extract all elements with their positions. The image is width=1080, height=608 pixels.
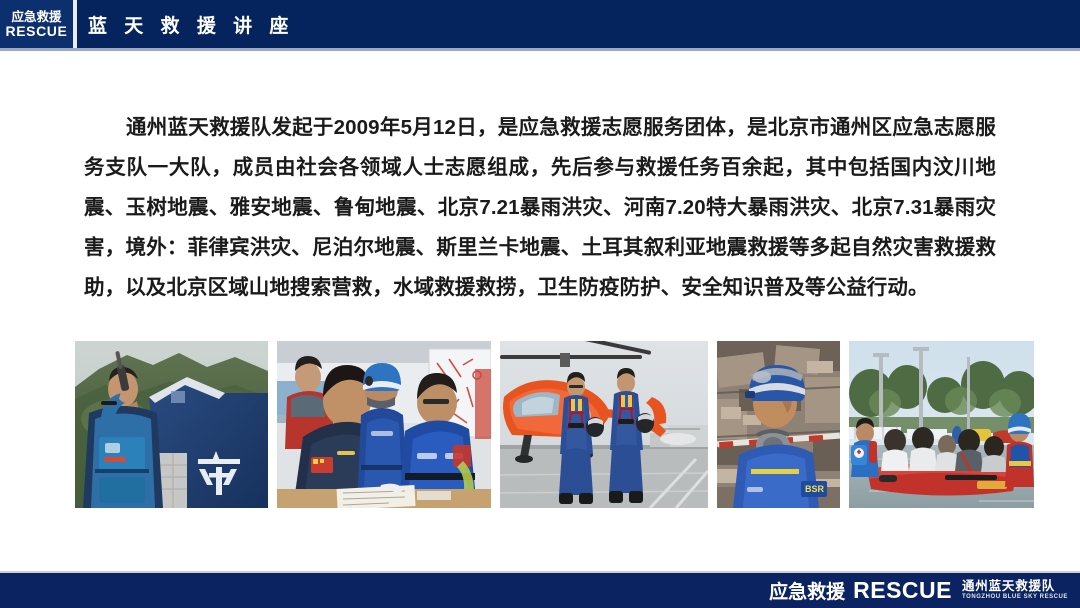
- photo-flood-boat-rescue: [849, 341, 1034, 508]
- page-title: 蓝 天 救 援 讲 座: [88, 0, 294, 48]
- photo-team-briefing-map: [277, 341, 491, 508]
- photo-satellite-phone-tent: [75, 341, 268, 508]
- photo-rubble-searcher: BSR: [717, 341, 840, 508]
- photo-strip: BSR: [75, 341, 1007, 508]
- header-logo: 应急救援 RESCUE: [0, 0, 73, 48]
- footer-team: 通州蓝天救援队 TONGZHOU BLUE SKY RESCUE: [962, 580, 1068, 602]
- photo-helicopter-crew: [500, 341, 708, 508]
- svg-text:BSR: BSR: [805, 484, 825, 494]
- header-underline: [0, 48, 1080, 51]
- header-bar: 应急救援 RESCUE 蓝 天 救 援 讲 座: [0, 0, 1080, 48]
- footer-team-en: TONGZHOU BLUE SKY RESCUE: [962, 593, 1068, 602]
- header-spacer: [77, 0, 88, 48]
- footer-brand-cn: 应急救援: [769, 577, 845, 604]
- header-logo-en: RESCUE: [6, 24, 68, 39]
- footer-team-cn: 通州蓝天救援队: [962, 580, 1068, 593]
- footer-brand-en: RESCUE: [853, 577, 952, 604]
- body-paragraph: 通州蓝天救援队发起于2009年5月12日，是应急救援志愿服务团体，是北京市通州区…: [84, 108, 996, 308]
- footer-brand: 应急救援 RESCUE 通州蓝天救援队 TONGZHOU BLUE SKY RE…: [769, 573, 1068, 608]
- slide-root: 应急救援 RESCUE 蓝 天 救 援 讲 座 通州蓝天救援队发起于2009年5…: [0, 0, 1080, 608]
- header-logo-cn: 应急救援: [11, 10, 61, 24]
